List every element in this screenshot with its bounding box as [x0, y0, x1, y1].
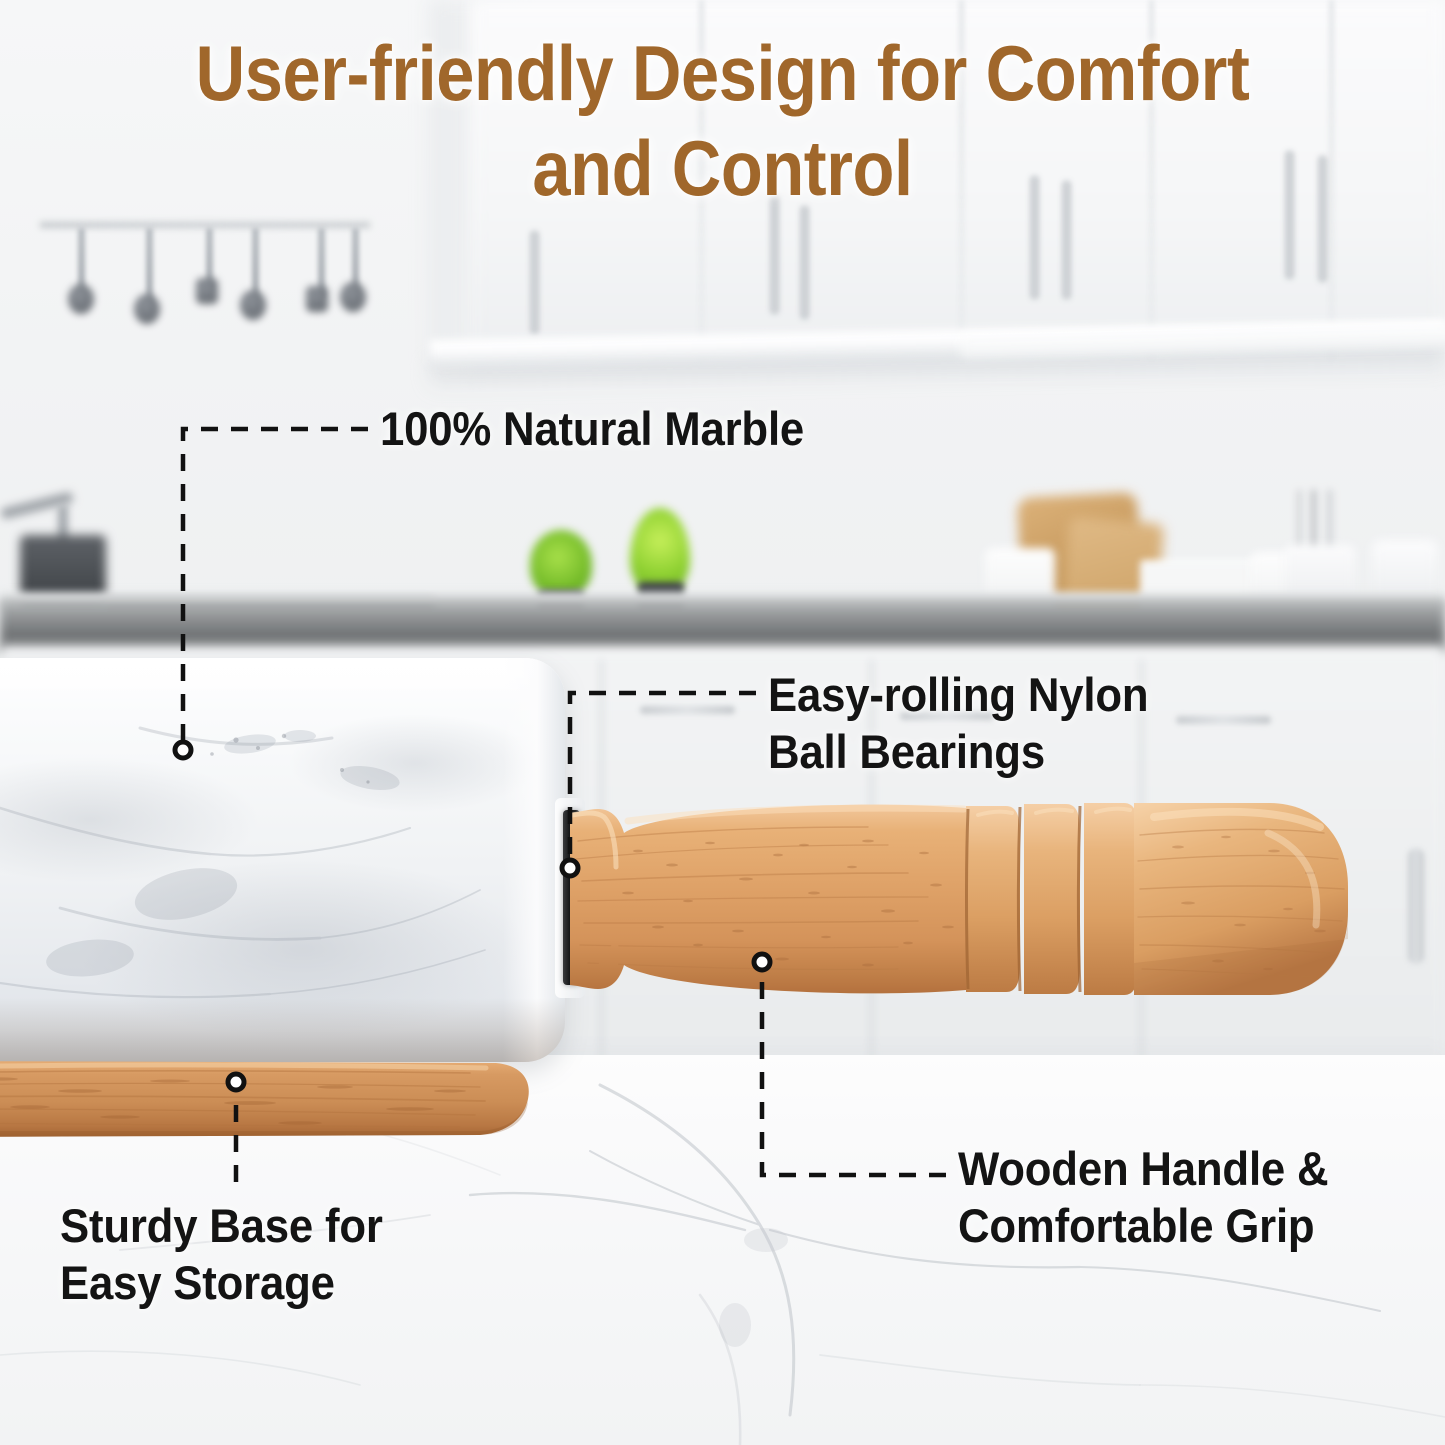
marble-roller-body — [0, 658, 565, 1062]
cabinet-handle-icon — [1408, 848, 1424, 964]
wooden-base-stand — [0, 1057, 545, 1145]
callout-label-handle: Wooden Handle & Comfortable Grip — [958, 1140, 1328, 1255]
page-title: User-friendly Design for Comfort and Con… — [87, 26, 1359, 216]
callout-label-bearing: Easy-rolling Nylon Ball Bearings — [768, 666, 1148, 781]
utensil-icon — [68, 284, 94, 314]
wooden-handle — [568, 793, 1358, 1005]
product-infographic: 100% Natural Marble Easy-rolling Nylon B… — [0, 0, 1445, 1445]
utensil-icon — [240, 290, 266, 320]
cabinet-handle-icon — [640, 706, 735, 714]
cabinet-handle-icon — [800, 205, 809, 320]
cabinet-handle-icon — [1176, 716, 1271, 724]
callout-label-marble: 100% Natural Marble — [380, 400, 804, 457]
utensil-crock — [1292, 490, 1352, 552]
utensil-icon — [340, 282, 366, 312]
cabinet-handle-icon — [530, 230, 539, 335]
utensil-icon — [134, 294, 160, 324]
callout-label-base: Sturdy Base for Easy Storage — [60, 1197, 383, 1312]
utensil-icon — [306, 286, 328, 312]
utensil-icon — [196, 278, 218, 304]
